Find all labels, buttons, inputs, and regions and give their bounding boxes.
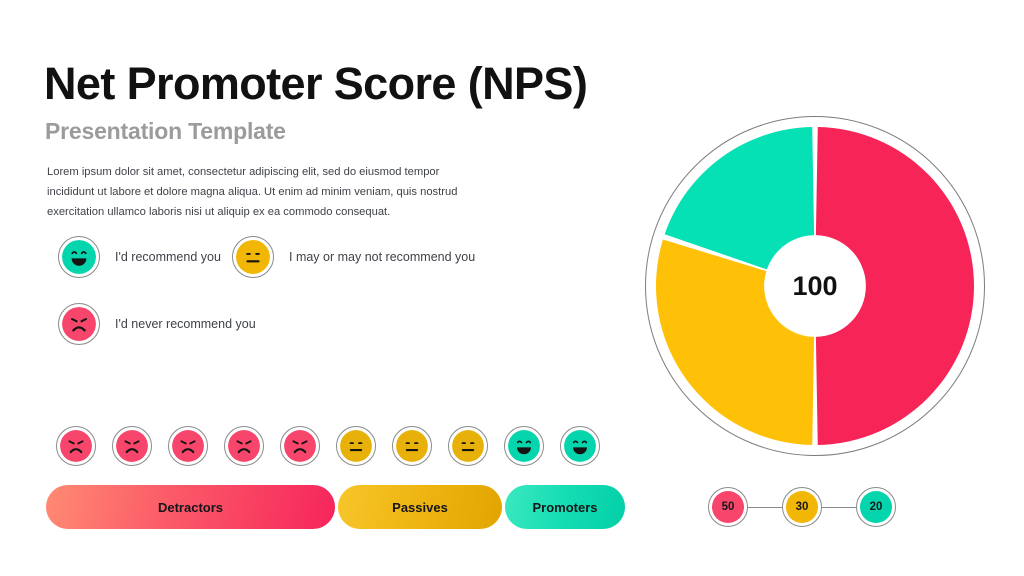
sad-face-glyph (62, 307, 96, 341)
sad-face-icon[interactable] (280, 426, 320, 466)
sad-face-icon[interactable] (112, 426, 152, 466)
neutral-face-icon[interactable] (392, 426, 432, 466)
sad-face-icon-glyph (228, 430, 260, 462)
sad-face-icon (58, 303, 100, 345)
happy-face-icon-glyph (508, 430, 540, 462)
legend-item-promoter: I'd recommend you (58, 236, 221, 278)
sad-face-icon[interactable] (168, 426, 208, 466)
happy-face-icon[interactable] (504, 426, 544, 466)
category-bar-group: Detractors Passives Promoters (46, 485, 625, 529)
badge-connector (822, 507, 856, 508)
page-title: Net Promoter Score (NPS) (44, 58, 587, 110)
donut-segment-passives[interactable] (656, 240, 814, 445)
neutral-face-icon-glyph (340, 430, 372, 462)
value-badge[interactable]: 30 (782, 487, 822, 527)
category-bar-label: Promoters (532, 500, 597, 515)
neutral-face-icon (232, 236, 274, 278)
neutral-face-icon-glyph (396, 430, 428, 462)
donut-segment-detractors[interactable] (816, 127, 974, 445)
legend-item-label: I may or may not recommend you (289, 250, 475, 264)
legend-item-detractor: I'd never recommend you (58, 303, 256, 345)
sad-face-icon-glyph (172, 430, 204, 462)
happy-face-icon (58, 236, 100, 278)
category-bar-detractors[interactable]: Detractors (46, 485, 335, 529)
sad-face-icon[interactable] (224, 426, 264, 466)
value-badge-label: 30 (786, 491, 818, 523)
nps-donut-chart: 100 (645, 116, 985, 456)
category-bar-passives[interactable]: Passives (338, 485, 502, 529)
neutral-face-glyph (236, 240, 270, 274)
neutral-face-icon-glyph (452, 430, 484, 462)
donut-segments (656, 127, 974, 445)
value-badge-group: 503020 (708, 487, 896, 527)
happy-face-glyph (62, 240, 96, 274)
category-bar-label: Detractors (158, 500, 223, 515)
value-badge[interactable]: 50 (708, 487, 748, 527)
value-badge-label: 20 (860, 491, 892, 523)
sad-face-icon[interactable] (56, 426, 96, 466)
sad-face-icon-glyph (116, 430, 148, 462)
happy-face-icon[interactable] (560, 426, 600, 466)
category-bar-label: Passives (392, 500, 448, 515)
value-badge[interactable]: 20 (856, 487, 896, 527)
happy-face-icon-glyph (564, 430, 596, 462)
sad-face-icon-glyph (284, 430, 316, 462)
legend-item-label: I'd never recommend you (115, 317, 256, 331)
body-paragraph: Lorem ipsum dolor sit amet, consectetur … (47, 162, 467, 222)
legend-item-passive: I may or may not recommend you (232, 236, 475, 278)
badge-connector (748, 507, 782, 508)
neutral-face-icon[interactable] (336, 426, 376, 466)
value-badge-label: 50 (712, 491, 744, 523)
legend-item-label: I'd recommend you (115, 250, 221, 264)
category-bar-promoters[interactable]: Promoters (505, 485, 625, 529)
sad-face-icon-glyph (60, 430, 92, 462)
face-rating-strip (56, 426, 600, 466)
page-subtitle: Presentation Template (45, 118, 286, 145)
neutral-face-icon[interactable] (448, 426, 488, 466)
